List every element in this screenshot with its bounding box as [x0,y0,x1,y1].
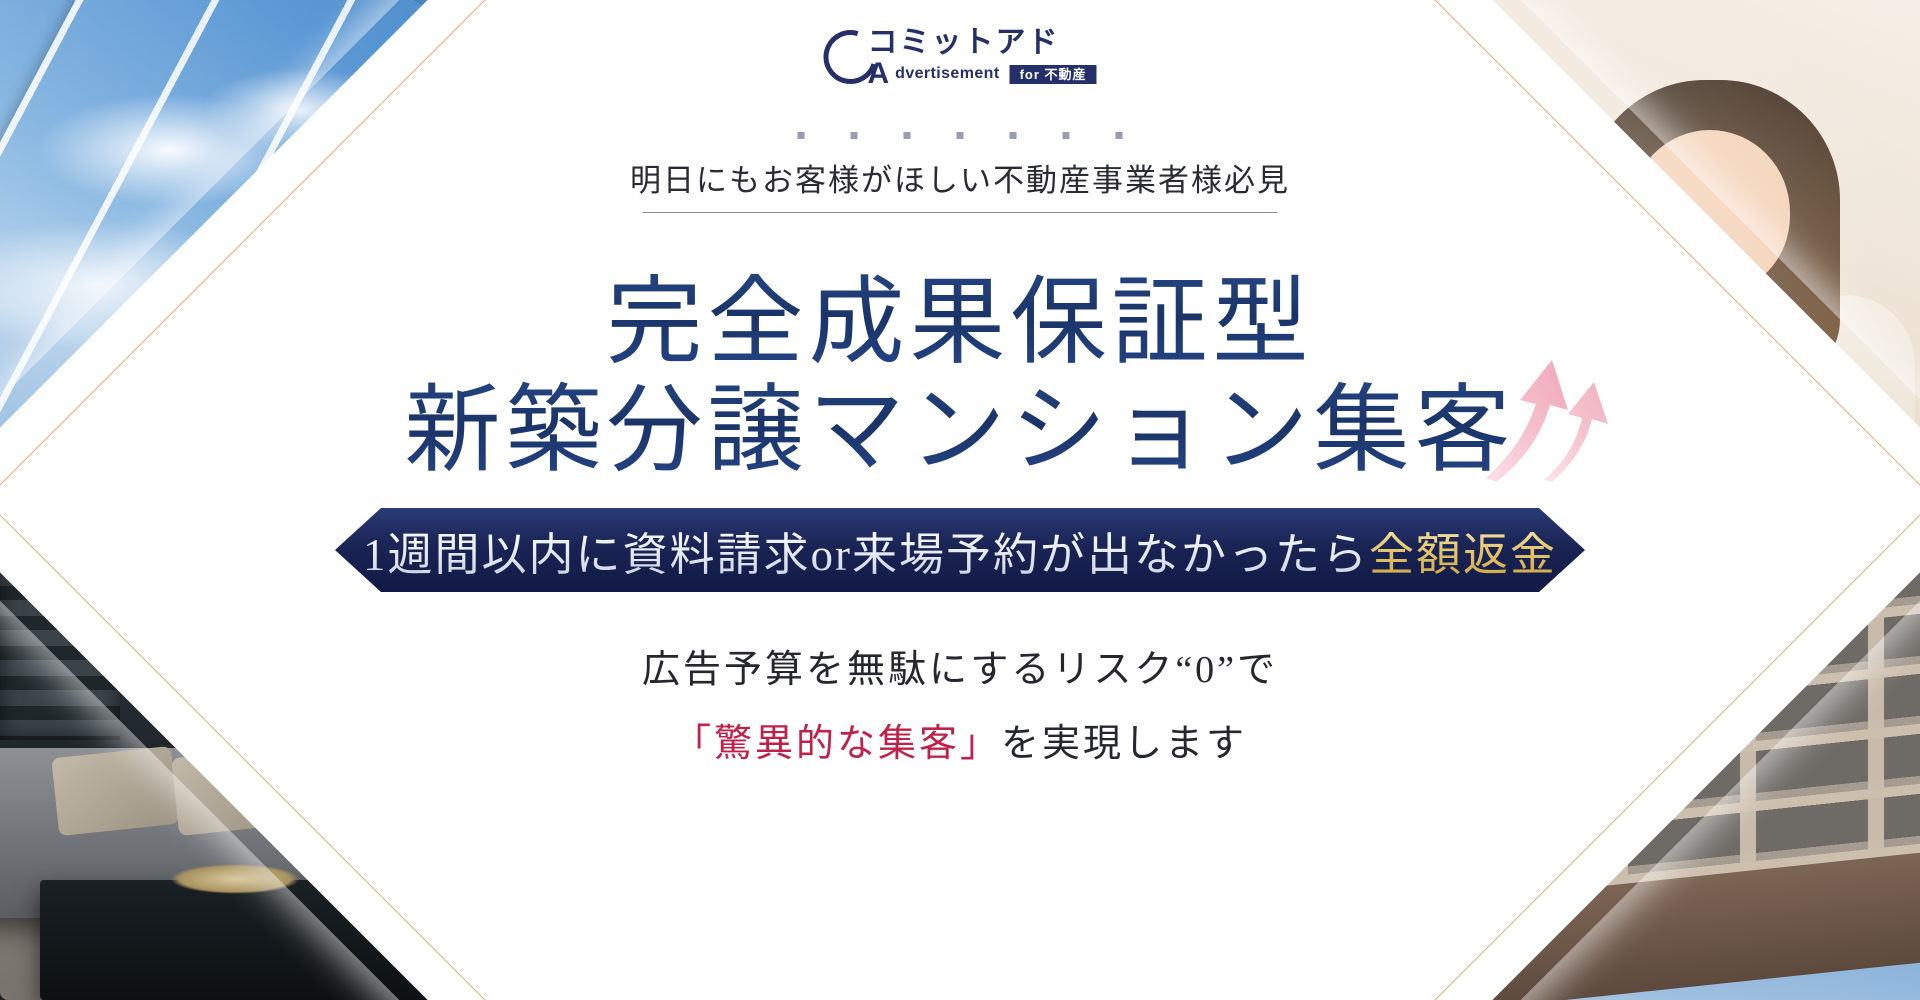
rising-arrows-icon [1482,352,1622,482]
lead-line-2: 「驚異的な集客」を実現します [673,712,1247,767]
logo-kana: コミットアド [867,28,1096,58]
headline-line-2: 新築分譲マンション集客 [405,352,1516,491]
hero-banner: コミットアド A dvertisement for 不動産 明日にもお客様がほし… [0,0,1920,1000]
lead-rest-text: を実現します [1001,723,1247,765]
ribbon-text-gold: 全額返金 [1369,518,1557,583]
eyebrow-text: 明日にもお客様がほしい不動産事業者様必見 [630,155,1290,200]
brand-logo[interactable]: コミットアド A dvertisement for 不動産 [823,28,1096,86]
lead-line-1: 広告予算を無駄にするリスク“0”で [642,638,1278,693]
logo-advertisement: dvertisement [895,66,999,82]
lead-accent-text: 「驚異的な集客」 [673,723,1001,765]
logo-badge-for-real-estate: for 不動産 [1010,65,1097,84]
ribbon-text-main: 1週間以内に資料請求or来場予約が出なかったら [363,518,1369,583]
emphasis-dots [798,132,1123,139]
divider-line [643,212,1278,213]
guarantee-ribbon: 1週間以内に資料請求or来場予約が出なかったら全額返金 [335,508,1585,592]
